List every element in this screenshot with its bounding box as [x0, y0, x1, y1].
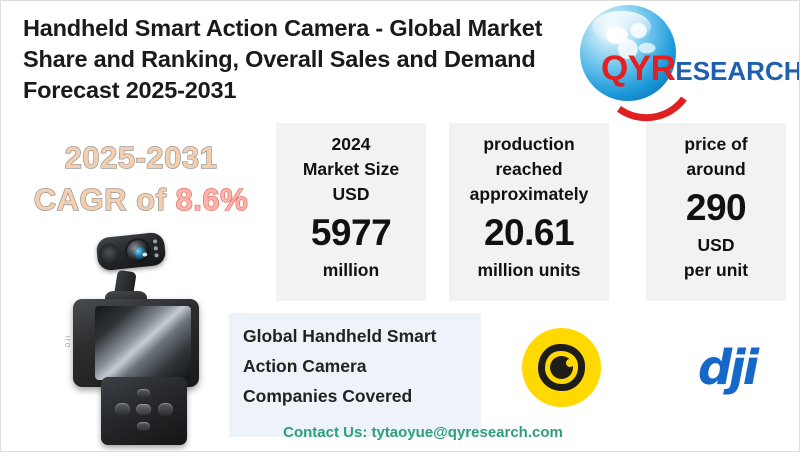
- camera-lens-glint: [142, 252, 147, 257]
- companies-line-3: Companies Covered: [243, 381, 479, 411]
- stat-label-line: production: [449, 132, 609, 157]
- stat-value: 20.61: [449, 209, 609, 257]
- dji-logo: dji: [669, 337, 785, 399]
- dpad-left-button: [115, 403, 130, 416]
- camera-lens-icon: [124, 237, 153, 266]
- logo-wordmark: QYRESEARCH: [601, 47, 800, 93]
- stat-label-line: price of: [646, 132, 786, 157]
- stat-unit-line: USD: [646, 233, 786, 258]
- page-title: Handheld Smart Action Camera - Global Ma…: [23, 13, 583, 106]
- dpad-ok-button: [136, 404, 151, 415]
- stat-label-line: around: [646, 157, 786, 182]
- stat-unit-line: million: [276, 258, 426, 283]
- stat-value: 5977: [276, 209, 426, 257]
- camera-button-pad: [115, 389, 173, 431]
- stat-label-line: Market Size: [276, 157, 426, 182]
- globe-gloss: [592, 11, 652, 44]
- stat-value: 290: [646, 184, 786, 232]
- insta360-highlight-dot: [566, 359, 574, 367]
- cagr-block: 2025-2031 CAGR of 8.6%: [19, 137, 263, 221]
- cagr-period: 2025-2031: [19, 137, 263, 179]
- qyresearch-logo: QYRESEARCH: [575, 3, 785, 107]
- camera-body: DJI: [73, 299, 199, 387]
- companies-covered-panel: Global Handheld Smart Action Camera Comp…: [229, 313, 481, 437]
- camera-grip: [101, 377, 187, 445]
- dpad-right-button: [158, 403, 173, 416]
- logo-research-text: ESEARCH: [675, 56, 800, 86]
- stat-unit-line: per unit: [646, 258, 786, 283]
- stat-label-line: 2024: [276, 132, 426, 157]
- cagr-value: 8.6%: [176, 182, 249, 217]
- cagr-value-line: CAGR of 8.6%: [19, 179, 263, 221]
- camera-sensor-dots: [153, 239, 160, 258]
- camera-head: [95, 232, 166, 272]
- camera-head-side: [98, 242, 120, 265]
- stat-card-market-size: 2024 Market Size USD 5977 million: [276, 123, 426, 301]
- dpad-down-button: [137, 422, 150, 431]
- contact-email[interactable]: Contact Us: tytaoyue@qyresearch.com: [223, 424, 623, 441]
- companies-line-1: Global Handheld Smart: [243, 321, 479, 351]
- insta360-logo: [522, 328, 601, 407]
- dpad-up-button: [137, 389, 150, 398]
- stat-label-line: USD: [276, 182, 426, 207]
- cagr-prefix: CAGR of: [34, 182, 176, 217]
- camera-lens-inner: [134, 246, 147, 259]
- product-image-action-camera: DJI: [63, 229, 233, 449]
- companies-covered-text: Global Handheld Smart Action Camera Comp…: [243, 321, 479, 411]
- stat-label-line: reached: [449, 157, 609, 182]
- camera-screen: [95, 306, 191, 380]
- stat-card-price: price of around 290 USD per unit: [646, 123, 786, 301]
- stat-card-production: production reached approximately 20.61 m…: [449, 123, 609, 301]
- infographic-poster: Handheld Smart Action Camera - Global Ma…: [0, 0, 800, 452]
- stat-unit-line: million units: [449, 258, 609, 283]
- logo-qyr-text: QYR: [601, 49, 675, 88]
- companies-line-2: Action Camera: [243, 351, 479, 381]
- stat-label-line: approximately: [449, 182, 609, 207]
